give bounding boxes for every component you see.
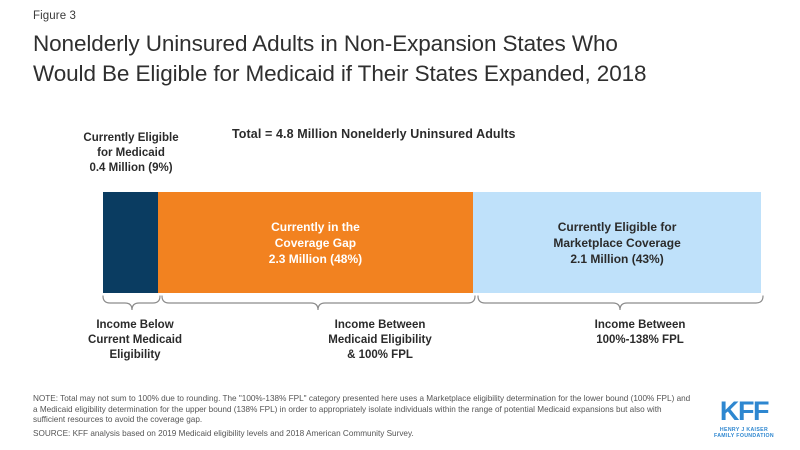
coverage-gap-line-3: 2.3 Million (48%) xyxy=(269,251,362,267)
bracket-100-138-fpl xyxy=(478,296,763,310)
caption-below-line-3: Eligibility xyxy=(50,348,220,363)
stacked-bar-chart: Currently in the Coverage Gap 2.3 Millio… xyxy=(103,192,761,293)
bracket-group xyxy=(70,294,780,316)
medicaid-callout-label: Currently Eligible for Medicaid 0.4 Mill… xyxy=(48,131,214,176)
bracket-svg xyxy=(70,294,780,316)
kff-wordmark: KFF xyxy=(713,398,775,425)
coverage-gap-line-1: Currently in the xyxy=(269,219,362,235)
caption-between-line-3: & 100% FPL xyxy=(200,348,560,363)
caption-fpl-line-1: Income Between xyxy=(480,318,800,333)
note-text: NOTE: Total may not sum to 100% due to r… xyxy=(33,394,695,426)
title-line-2: Would Be Eligible for Medicaid if Their … xyxy=(33,59,768,89)
marketplace-line-3: 2.1 Million (43%) xyxy=(553,251,680,267)
figure-label: Figure 3 xyxy=(33,10,76,22)
source-text: SOURCE: KFF analysis based on 2019 Medic… xyxy=(33,429,695,440)
kff-logo-subtitle: HENRY J KAISER FAMILY FOUNDATION xyxy=(713,427,775,440)
marketplace-label: Currently Eligible for Marketplace Cover… xyxy=(553,219,680,267)
callout-line-2: for Medicaid xyxy=(48,146,214,161)
bracket-below-medicaid xyxy=(103,296,160,310)
coverage-gap-line-2: Coverage Gap xyxy=(269,235,362,251)
bar-segment-marketplace-coverage[interactable]: Currently Eligible for Marketplace Cover… xyxy=(473,192,761,293)
coverage-gap-label: Currently in the Coverage Gap 2.3 Millio… xyxy=(269,219,362,267)
bracket-caption-income-between-100-138-fpl: Income Between 100%-138% FPL xyxy=(480,318,800,348)
bracket-between-medicaid-100fpl xyxy=(162,296,475,310)
marketplace-line-2: Marketplace Coverage xyxy=(553,235,680,251)
page-title: Nonelderly Uninsured Adults in Non-Expan… xyxy=(33,29,768,89)
bracket-caption-income-below-current-medicaid: Income Below Current Medicaid Eligibilit… xyxy=(50,318,220,363)
caption-fpl-line-2: 100%-138% FPL xyxy=(480,333,800,348)
bar-segment-currently-eligible-medicaid[interactable] xyxy=(103,192,158,293)
footnotes: NOTE: Total may not sum to 100% due to r… xyxy=(33,394,695,439)
callout-line-3: 0.4 Million (9%) xyxy=(48,161,214,176)
title-line-1: Nonelderly Uninsured Adults in Non-Expan… xyxy=(33,29,768,59)
callout-line-1: Currently Eligible xyxy=(48,131,214,146)
bar-segment-coverage-gap[interactable]: Currently in the Coverage Gap 2.3 Millio… xyxy=(158,192,473,293)
caption-below-line-1: Income Below xyxy=(50,318,220,333)
kff-sub-line-2: FAMILY FOUNDATION xyxy=(713,433,775,439)
total-caption: Total = 4.8 Million Nonelderly Uninsured… xyxy=(232,127,516,141)
kff-logo: KFF HENRY J KAISER FAMILY FOUNDATION xyxy=(713,398,775,440)
marketplace-line-1: Currently Eligible for xyxy=(553,219,680,235)
caption-below-line-2: Current Medicaid xyxy=(50,333,220,348)
